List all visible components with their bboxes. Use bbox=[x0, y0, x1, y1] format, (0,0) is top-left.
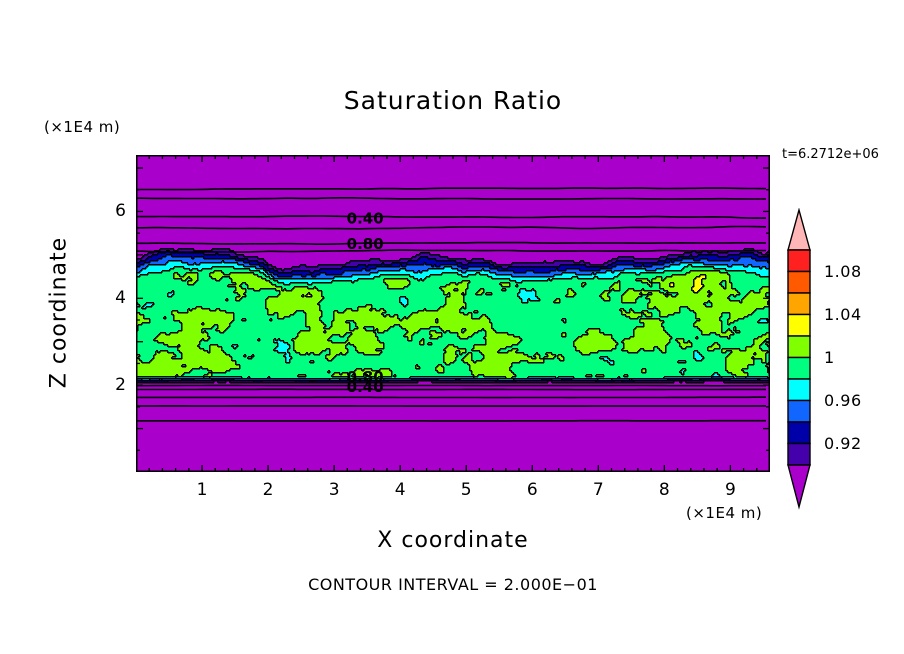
x-tick-label: 8 bbox=[644, 480, 684, 500]
contour-value-label: 0.80 bbox=[347, 235, 384, 253]
x-tick-label: 1 bbox=[182, 480, 222, 500]
contour-plot-svg: 0.400.800.800.40 bbox=[136, 155, 770, 472]
x-tick-label: 5 bbox=[446, 480, 486, 500]
contour-interval-label: CONTOUR INTERVAL = 2.000E−01 bbox=[136, 575, 770, 594]
x-tick-label: 9 bbox=[710, 480, 750, 500]
contour-value-label: 0.40 bbox=[347, 209, 384, 227]
x-tick-label: 6 bbox=[512, 480, 552, 500]
colorbar-label: 0.92 bbox=[824, 434, 862, 453]
x-axis-title: X coordinate bbox=[136, 528, 770, 553]
colorbar-svg bbox=[782, 208, 822, 513]
colorbar: 1.081.0410.960.92 bbox=[782, 208, 902, 513]
x-tick-label: 4 bbox=[380, 480, 420, 500]
colorbar-label: 1.04 bbox=[824, 305, 862, 324]
y-axis-title: Z coordinate bbox=[47, 233, 72, 393]
colorbar-label: 0.96 bbox=[824, 391, 862, 410]
contour-value-label: 0.40 bbox=[347, 378, 384, 396]
y-tick-label: 4 bbox=[96, 288, 126, 308]
x-tick-label: 2 bbox=[248, 480, 288, 500]
y-tick-label: 6 bbox=[96, 201, 126, 221]
x-tick-label: 3 bbox=[314, 480, 354, 500]
page-title: Saturation Ratio bbox=[136, 86, 770, 115]
y-axis-units-label: (×1E4 m) bbox=[44, 118, 120, 136]
y-tick-label: 2 bbox=[96, 375, 126, 395]
timestamp-annotation: t=6.2712e+06 bbox=[782, 147, 879, 162]
colorbar-label: 1 bbox=[824, 348, 835, 367]
contour-plot: 0.400.800.800.40 bbox=[136, 155, 770, 472]
colorbar-label: 1.08 bbox=[824, 262, 862, 281]
x-axis-units-label: (×1E4 m) bbox=[686, 504, 762, 522]
x-tick-label: 7 bbox=[578, 480, 618, 500]
